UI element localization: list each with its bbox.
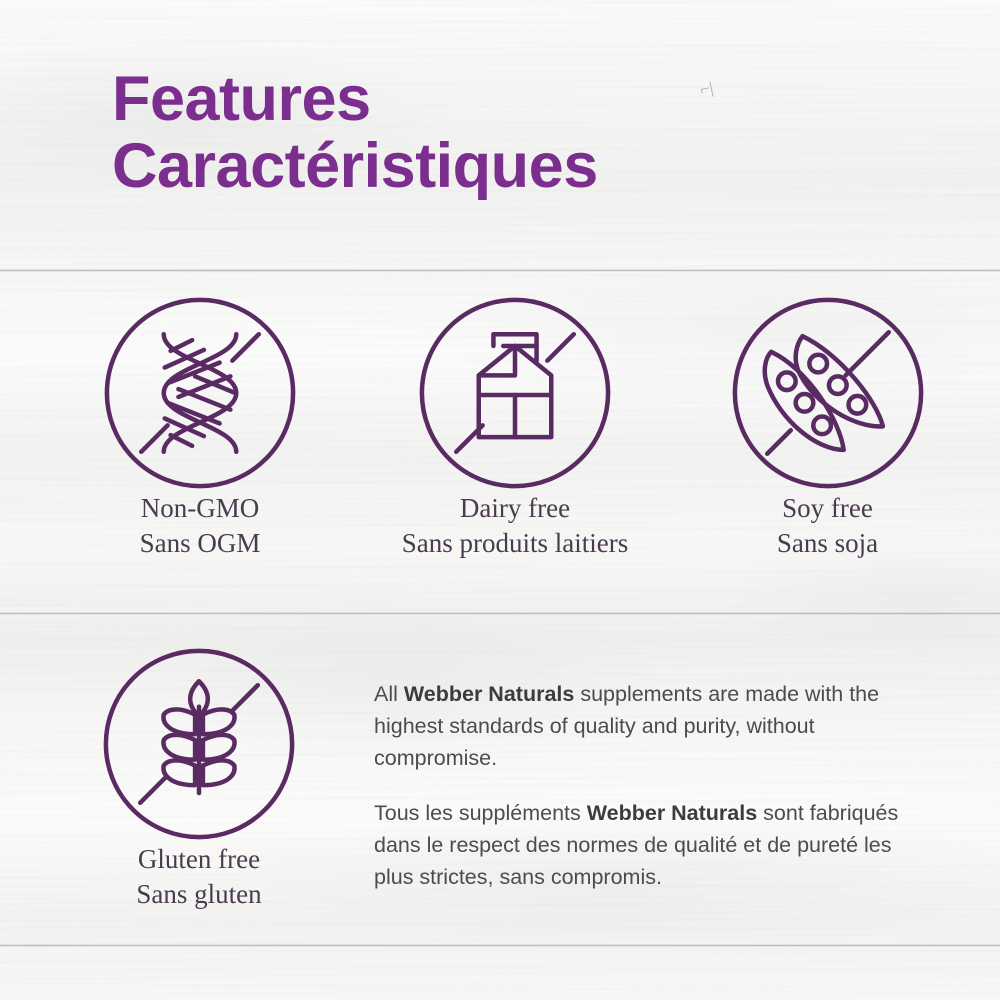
feature-label-dairy-free: Dairy free Sans produits laitiers bbox=[355, 491, 675, 560]
feature-label-gluten-free-en: Gluten free bbox=[138, 844, 260, 874]
feature-label-gluten-free-fr: Sans gluten bbox=[58, 877, 340, 912]
statement-en-before: All bbox=[374, 682, 404, 706]
brand-statement: All Webber Naturals supplements are made… bbox=[374, 679, 922, 894]
brand-statement-fr: Tous les suppléments Webber Naturals son… bbox=[374, 798, 922, 893]
no-dairy-carton-icon bbox=[417, 295, 613, 491]
no-soy-pods-icon bbox=[730, 295, 926, 491]
feature-label-dairy-free-en: Dairy free bbox=[460, 493, 570, 523]
statement-fr-before: Tous les suppléments bbox=[374, 801, 587, 825]
feature-label-soy-free-fr: Sans soja bbox=[690, 526, 965, 561]
feature-panel: ⌐| Features Caractéristiques bbox=[0, 0, 1000, 1000]
no-gluten-wheat-icon bbox=[101, 646, 297, 842]
feature-label-soy-free: Soy free Sans soja bbox=[690, 491, 965, 560]
page-title: Features Caractéristiques bbox=[112, 66, 598, 200]
brand-statement-en: All Webber Naturals supplements are made… bbox=[374, 679, 922, 774]
statement-fr-brand: Webber Naturals bbox=[587, 801, 757, 825]
feature-label-non-gmo-fr: Sans OGM bbox=[60, 526, 340, 561]
feature-label-non-gmo: Non-GMO Sans OGM bbox=[60, 491, 340, 560]
feature-label-gluten-free: Gluten free Sans gluten bbox=[58, 842, 340, 911]
plank-seam-1 bbox=[0, 269, 1000, 272]
feature-item-soy-free: Soy free Sans soja bbox=[690, 295, 965, 560]
statement-en-brand: Webber Naturals bbox=[404, 682, 574, 706]
feature-label-soy-free-en: Soy free bbox=[782, 493, 873, 523]
plank-seam-3 bbox=[0, 944, 1000, 947]
no-gmo-dna-icon bbox=[102, 295, 298, 491]
page-title-fr: Caractéristiques bbox=[112, 133, 598, 200]
feature-item-gluten-free: Gluten free Sans gluten bbox=[58, 646, 340, 911]
feature-label-dairy-free-fr: Sans produits laitiers bbox=[355, 526, 675, 561]
feature-item-non-gmo: Non-GMO Sans OGM bbox=[60, 295, 340, 560]
page-title-en: Features bbox=[112, 64, 371, 134]
feature-item-dairy-free: Dairy free Sans produits laitiers bbox=[355, 295, 675, 560]
plank-seam-2 bbox=[0, 612, 1000, 615]
feature-label-non-gmo-en: Non-GMO bbox=[141, 493, 260, 523]
